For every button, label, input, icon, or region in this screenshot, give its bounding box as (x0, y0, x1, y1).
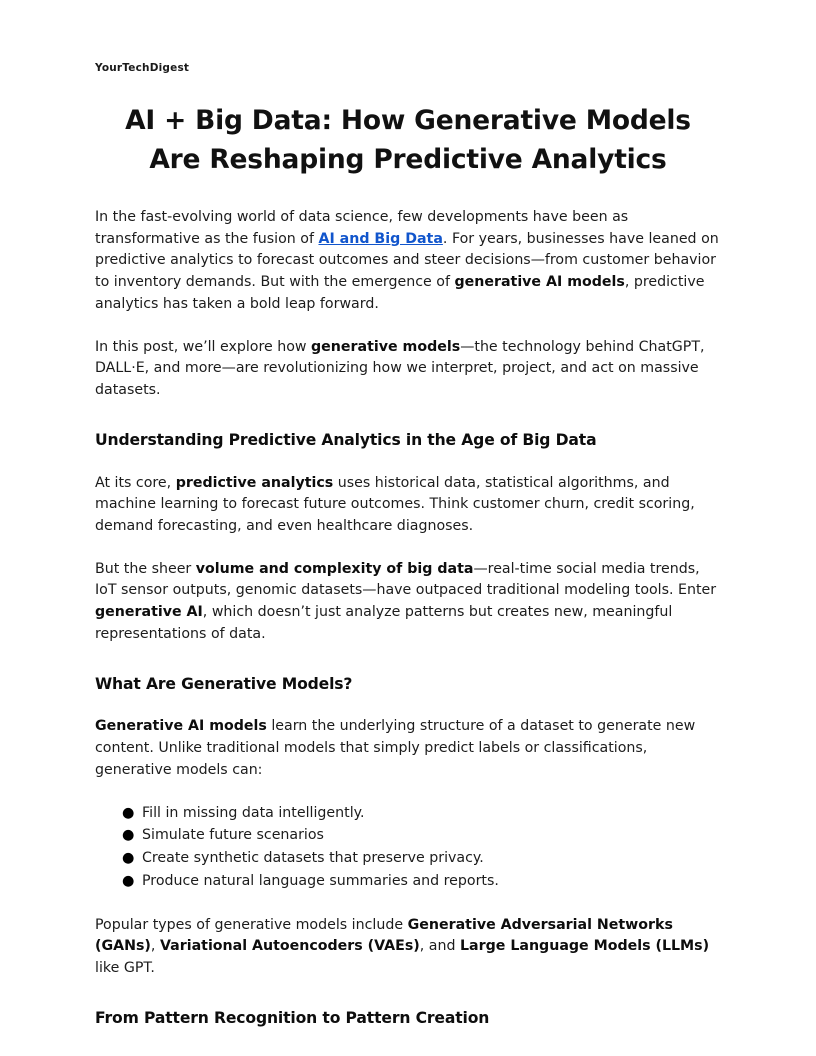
heading-understanding-predictive-analytics: Understanding Predictive Analytics in th… (95, 430, 721, 452)
generative-model-types-paragraph: Popular types of generative models inclu… (95, 915, 721, 980)
bold-text: generative AI models (454, 274, 624, 290)
document-content-column: YourTechDigest AI + Big Data: How Genera… (95, 0, 721, 1029)
bullet-icon: ● (122, 848, 134, 870)
big-data-complexity-paragraph: But the sheer volume and complexity of b… (95, 559, 721, 646)
text-run: Popular types of generative models inclu… (95, 917, 408, 933)
document-page: YourTechDigest AI + Big Data: How Genera… (0, 0, 816, 1056)
list-item-label: Create synthetic datasets that preserve … (142, 850, 484, 866)
page-title-line-1: AI + Big Data: How Generative Models (125, 105, 691, 136)
post-overview-paragraph: In this post, we’ll explore how generati… (95, 337, 721, 402)
generative-model-capabilities-list: ●Fill in missing data intelligently.●Sim… (95, 803, 721, 893)
list-item-label: Fill in missing data intelligently. (142, 805, 365, 821)
bold-text: Large Language Models (LLMs) (460, 938, 709, 954)
bold-text: generative models (311, 339, 460, 355)
list-item-label: Produce natural language summaries and r… (142, 873, 499, 889)
page-title-line-2: Are Reshaping Predictive Analytics (149, 144, 666, 175)
heading-what-are-generative-models: What Are Generative Models? (95, 674, 721, 696)
text-run: In this post, we’ll explore how (95, 339, 311, 355)
predictive-analytics-definition-paragraph: At its core, predictive analytics uses h… (95, 473, 721, 538)
page-title: AI + Big Data: How Generative Models Are… (95, 101, 721, 179)
bullet-icon: ● (122, 825, 134, 847)
article-body: In the fast-evolving world of data scien… (95, 207, 721, 1029)
bullet-icon: ● (122, 871, 134, 893)
bullet-icon: ● (122, 803, 134, 825)
list-item: ●Create synthetic datasets that preserve… (142, 848, 721, 870)
heading-from-pattern-recognition-to-pattern-creation: From Pattern Recognition to Pattern Crea… (95, 1008, 721, 1030)
intro-paragraph: In the fast-evolving world of data scien… (95, 207, 721, 316)
text-run: , (151, 938, 160, 954)
list-item-label: Simulate future scenarios (142, 827, 324, 843)
site-logo: YourTechDigest (95, 62, 721, 75)
text-run: like GPT. (95, 960, 155, 976)
text-run: , and (420, 938, 460, 954)
text-run: At its core, (95, 475, 176, 491)
list-item: ●Simulate future scenarios (142, 825, 721, 847)
bold-text: predictive analytics (176, 475, 334, 491)
text-run: But the sheer (95, 561, 196, 577)
bold-text: Variational Autoencoders (VAEs) (160, 938, 420, 954)
generative-models-definition-paragraph: Generative AI models learn the underlyin… (95, 716, 721, 781)
inline-link[interactable]: AI and Big Data (318, 231, 442, 247)
bold-text: Generative AI models (95, 718, 267, 734)
list-item: ●Fill in missing data intelligently. (142, 803, 721, 825)
list-item: ●Produce natural language summaries and … (142, 871, 721, 893)
bold-text: generative AI (95, 604, 203, 620)
bold-text: volume and complexity of big data (196, 561, 474, 577)
